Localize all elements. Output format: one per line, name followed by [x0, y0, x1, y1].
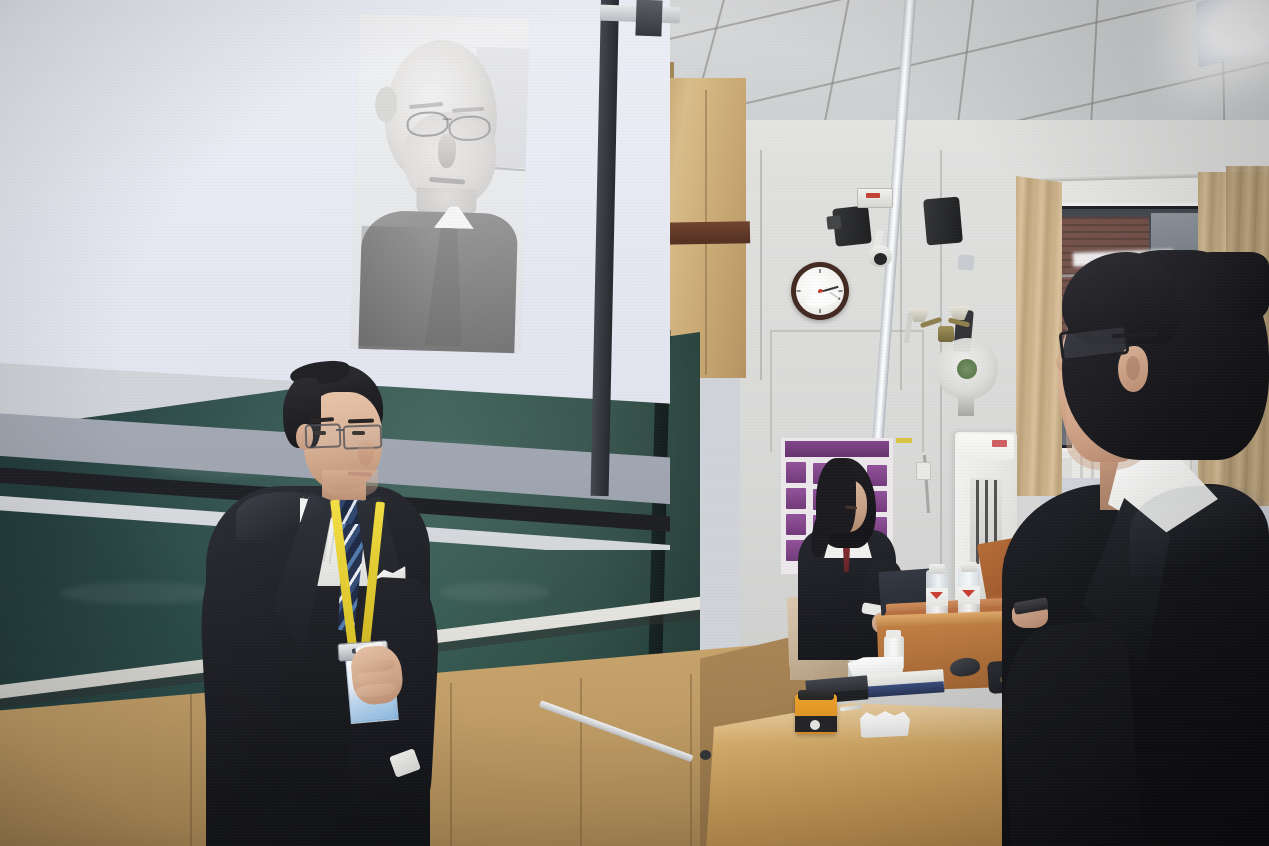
listener-shoulder-highlight — [1130, 486, 1269, 576]
presenter-glasses-bridge — [336, 429, 344, 431]
speaker-left-bracket — [826, 215, 841, 229]
crumpled-tissue — [858, 710, 910, 738]
presenter-nose — [358, 440, 374, 466]
presenter-chin — [322, 470, 378, 498]
control-box-led-icon — [866, 193, 880, 198]
water-bottle-2-cap — [961, 562, 977, 572]
slide-portrait-photo — [350, 14, 529, 354]
wall-fan-mount — [958, 396, 974, 416]
ceiling-light-glow — [1228, 28, 1269, 54]
bulletin-board-header — [785, 441, 889, 457]
control-box[interactable] — [857, 188, 893, 208]
classroom-presentation-photo: Student Presentation in a Classroom — [0, 0, 1269, 846]
listener-arm — [996, 620, 1141, 846]
security-camera-lens-icon — [874, 253, 887, 265]
projection-screen-mount-bracket — [635, 0, 662, 36]
sanitizer-cap — [886, 630, 901, 638]
drop-pole-joint — [957, 254, 974, 270]
sconce-base — [938, 326, 954, 342]
presenter-shoulder-highlight — [236, 492, 326, 540]
wall-tag — [896, 438, 912, 443]
listener-ear-inner — [1126, 356, 1140, 380]
pointer-stick-tip — [700, 750, 711, 760]
countdown-timer-button[interactable] — [810, 720, 820, 730]
countdown-timer-top — [798, 690, 834, 700]
speaker-right — [923, 197, 963, 246]
wall-fan-hub — [957, 359, 977, 379]
presenter-arm-left — [198, 554, 285, 808]
wall-seam — [760, 150, 762, 380]
water-bottle-1-cap — [929, 564, 945, 574]
presenter-glasses-left — [305, 423, 342, 448]
wall-panel — [770, 330, 924, 452]
power-socket[interactable] — [916, 462, 931, 480]
